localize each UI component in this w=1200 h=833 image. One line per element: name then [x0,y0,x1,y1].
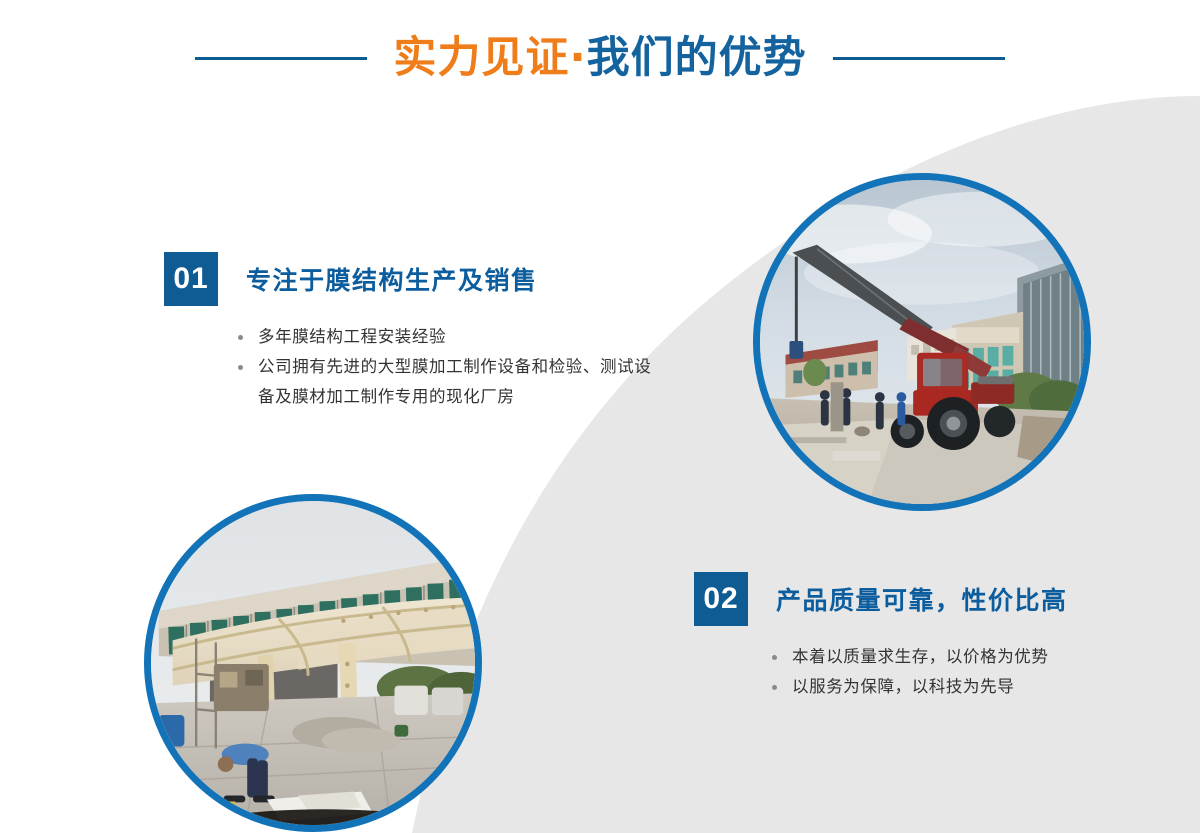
list-item: 公司拥有先进的大型膜加工制作设备和检验、测试设备及膜材加工制作专用的现化厂房 [236,352,666,412]
page-title: 实力见证·我们的优势 [393,37,806,80]
feature-block-01: 01 专注于膜结构生产及销售 多年膜结构工程安装经验 公司拥有先进的大型膜加工制… [164,252,666,412]
page-title-orange: 实力见证 [393,33,569,83]
feature-block-02: 02 产品质量可靠，性价比高 本着以质量求生存，以价格为优势 以服务为保障，以科… [694,572,1110,702]
list-item: 本着以质量求生存，以价格为优势 [770,642,1110,672]
page-header: 实力见证·我们的优势 [0,22,1200,94]
feature-01-number-badge: 01 [164,252,218,306]
list-item: 以服务为保障，以科技为先导 [770,672,1110,702]
header-rule-right [833,57,1005,60]
photo-canopy [144,494,482,832]
feature-02-title: 产品质量可靠，性价比高 [776,581,1068,617]
feature-01-title: 专注于膜结构生产及销售 [246,261,538,297]
list-item: 多年膜结构工程安装经验 [236,322,666,352]
promo-page: 实力见证·我们的优势 01 专注于膜结构生产及销售 多年膜结构工程安装经验 公司… [0,0,1200,833]
feature-01-bullet-list: 多年膜结构工程安装经验 公司拥有先进的大型膜加工制作设备和检验、测试设备及膜材加… [236,322,666,412]
page-title-separator-dot: · [569,33,586,83]
page-title-blue: 我们的优势 [587,33,807,83]
feature-01-head: 01 专注于膜结构生产及销售 [164,252,666,306]
header-rule-left [195,57,367,60]
photo-crane [753,173,1091,511]
feature-02-number-badge: 02 [694,572,748,626]
feature-02-head: 02 产品质量可靠，性价比高 [694,572,1110,626]
feature-02-bullet-list: 本着以质量求生存，以价格为优势 以服务为保障，以科技为先导 [770,642,1110,702]
